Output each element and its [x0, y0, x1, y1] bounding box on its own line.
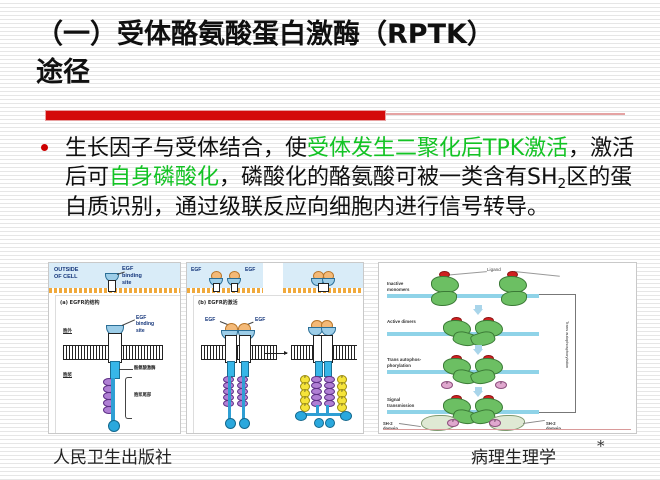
- panel2-dimer-tail-2: [326, 405, 329, 413]
- panel2-dimer-tm-domain: [313, 335, 333, 363]
- panel1-ligand-label: EGFbindingsite: [136, 315, 154, 334]
- panel2-dimer-kinase-2: [324, 361, 332, 377]
- panel2-tail-knob-1: [225, 418, 236, 429]
- panel2-banner-egf-left-label: EGF: [191, 267, 201, 273]
- page-title-line1: （一）受体酪氨酸蛋白激酶（RPTK）: [36, 19, 494, 50]
- figure-panel-rtk-signal-transmission: Ligand Inactivemonomers Active dimers Tr…: [378, 262, 637, 434]
- title-divider: [45, 110, 625, 121]
- panel3-side-bracket-label: Trans autophosphorylation: [565, 321, 570, 368]
- panel3-stage3-label: Trans autophos-phorylation: [387, 357, 421, 368]
- panel3-stage4-phospho-left: P: [447, 419, 459, 427]
- panel2-egf-left-label: EGF: [205, 317, 215, 323]
- body-paragraph: 生长因子与受体结合，使受体发生二聚化后TPK激活，激活后可自身磷酸化，磷酸化的酪…: [65, 134, 640, 222]
- panel1-kinase-leader-line: [119, 369, 133, 370]
- page-title: （一）受体酪氨酸蛋白激酶（RPTK）途径: [36, 16, 636, 93]
- panel1-banner-receptor-icon: [108, 280, 116, 292]
- footer-slide-number: *: [597, 437, 605, 455]
- panel1-tail-brace: [125, 377, 132, 419]
- figure-panel-egfr-activation: EGF EGF (b) EGFR的激活 EGF EGF: [186, 262, 364, 434]
- panel3-down-arrow-3-icon: [473, 391, 483, 397]
- footer-publisher: 人民卫生出版社: [53, 443, 172, 468]
- panel1-receptor-tm-domain: [108, 333, 122, 363]
- panel2-kinase-stem-2: [241, 361, 249, 377]
- panel2-dimer-kinase-1: [315, 361, 323, 377]
- panel2-dimer-knob-mid1: [314, 418, 324, 428]
- panel1-label-extracellular: 胞外: [63, 329, 72, 335]
- panel3-side-bracket: [539, 294, 576, 413]
- panel2-transition-arrow-icon: [265, 353, 287, 354]
- panel1-label-cytoplasm: 胞浆: [63, 373, 72, 379]
- panel2-banner-receptor-1-icon: [213, 283, 220, 292]
- panel2-dimer-tail-cross: [301, 413, 345, 416]
- panel3-bottom-red-rule: [383, 429, 631, 430]
- divider-thin-line: [386, 113, 625, 115]
- panel2-tail-1: [228, 376, 231, 420]
- panel3-stage1-label: Inactivemonomers: [387, 281, 409, 292]
- body-seg-2-highlight: 受体发生二聚化后TPK激活: [307, 136, 568, 161]
- panel2-egf-right-label: EGF: [255, 317, 265, 323]
- panel2-dimer-tm-split: [321, 335, 322, 361]
- page-title-line2: 途径: [36, 57, 90, 88]
- panel3-stage2-label: Active dimers: [387, 319, 416, 325]
- body-seg-6-subscript: 2: [558, 176, 567, 192]
- panel1-tail-end-knob: [108, 420, 120, 432]
- panel1-tyrosine-kinase-domain: [110, 361, 120, 379]
- panel2-caption: (b) EGFR的激活: [198, 300, 238, 306]
- panel2-dimer-knob-mid2: [325, 418, 335, 428]
- panel2-kinase-stem-1: [227, 361, 235, 377]
- panel2-tail-knob-2: [239, 418, 250, 429]
- panel2-tail-2: [242, 376, 245, 420]
- body-seg-5: ，磷酸化的酪氨酸可被一类含有SH: [219, 165, 558, 190]
- figure-panel-egfr-structure: OUTSIDEOF CELL EGFbindingsite (a) EGFR的结…: [48, 262, 181, 434]
- body-seg-4-highlight: 自身磷酸化: [109, 165, 219, 190]
- panel2-dimer-knob-left: [295, 411, 307, 421]
- panel1-banner-outside-label: OUTSIDEOF CELL: [54, 267, 78, 281]
- panel2-receptor-tm-1: [225, 335, 237, 363]
- divider-thick-bar: [45, 110, 386, 121]
- panel3-down-arrow-1-icon: [473, 309, 483, 315]
- footer-subject: 病理生理学: [471, 443, 556, 468]
- panel2-banner-receptor-2-icon: [231, 283, 238, 292]
- panel1-cytoplasmic-tail: [111, 378, 115, 423]
- panel3-ligand-label: Ligand: [487, 267, 501, 273]
- panel1-label-tail: 胞浆尾部: [134, 393, 151, 398]
- panel2-banner-left-membrane: [187, 288, 263, 293]
- panel1-caption: (a) EGFR的结构: [60, 300, 99, 306]
- panel3-phospho-left: P: [441, 381, 453, 389]
- panel2-receptor-tm-2: [239, 335, 251, 363]
- panel3-down-arrow-2-icon: [473, 349, 483, 355]
- panel3-phospho-right: P: [495, 381, 507, 389]
- panel3-stage4-phospho-right: P: [489, 419, 501, 427]
- panel1-label-tyrosine-kinase: 酪氨酸激酶: [134, 366, 155, 371]
- panel3-stage4-label: Signaltransmission: [387, 397, 414, 408]
- slide-canvas: （一）受体酪氨酸蛋白激酶（RPTK）途径 生长因子与受体结合，使受体发生二聚化后…: [0, 0, 660, 480]
- panel2-dimer-tail-1: [316, 405, 319, 413]
- bullet-dot-icon: [41, 144, 48, 151]
- panel2-dimer-knob-right: [340, 411, 352, 421]
- panel1-banner-egf-label: EGFbindingsite: [122, 266, 142, 287]
- panel2-banner2-receptor-icon: [318, 283, 329, 292]
- panel2-banner-egf-right-label: EGF: [245, 267, 255, 273]
- body-seg-1: 生长因子与受体结合，使: [65, 136, 307, 161]
